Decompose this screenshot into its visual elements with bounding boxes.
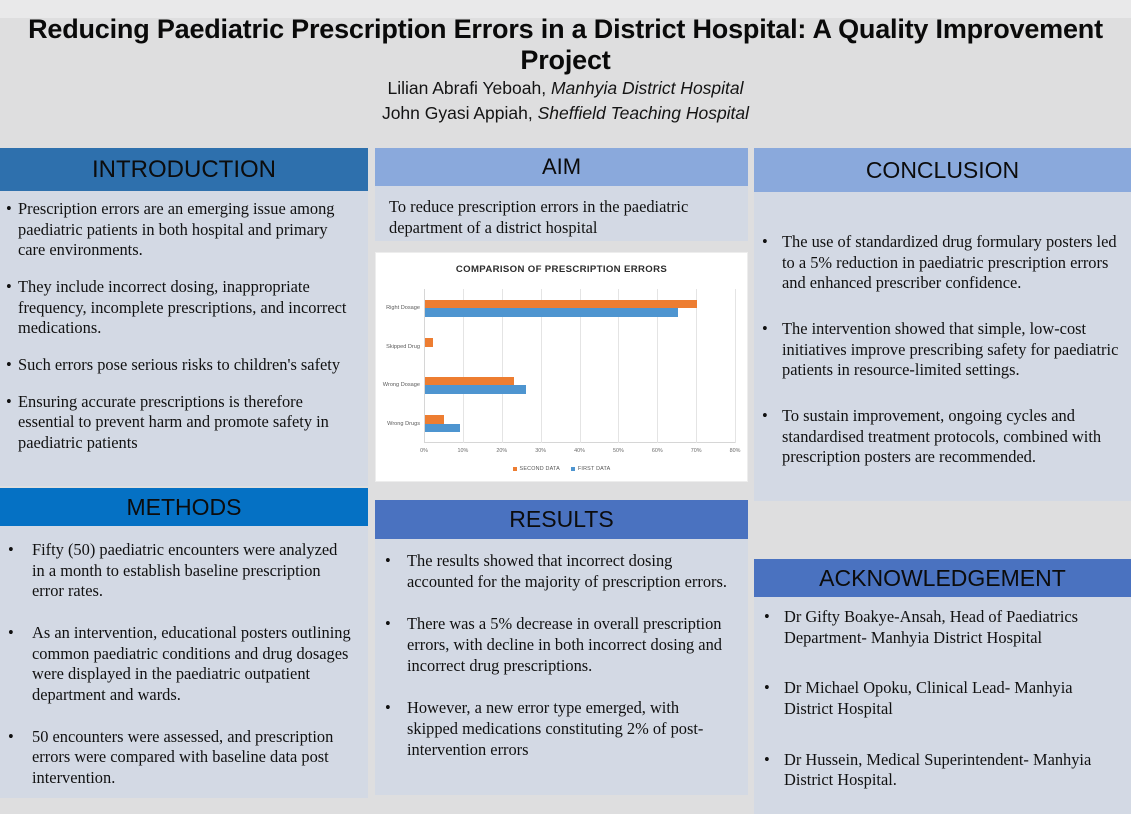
section-body-aim: To reduce prescription errors in the pae… <box>375 186 748 241</box>
aim-statement: To reduce prescription errors in the pae… <box>389 196 734 238</box>
chart-bar <box>425 300 697 308</box>
author-list: Lilian Abrafi Yeboah, Manhyia District H… <box>18 76 1113 126</box>
list-item: • Prescription errors are an emerging is… <box>6 199 356 261</box>
acknowledgement-bullet-list: • Dr Gifty Boakye-Ansah, Head of Paediat… <box>764 607 1119 791</box>
list-item: • Such errors pose serious risks to chil… <box>6 355 356 376</box>
list-item-text: The use of standardized drug formulary p… <box>782 232 1121 294</box>
chart-gridline <box>735 289 736 443</box>
chart-bar <box>425 415 444 423</box>
bullet-icon: • <box>385 551 391 572</box>
section-heading-methods: METHODS <box>0 488 368 526</box>
list-item-text: Dr Gifty Boakye-Ansah, Head of Paediatri… <box>784 607 1119 648</box>
section-body-results: • The results showed that incorrect dosi… <box>375 539 748 795</box>
chart-category-label: Wrong Drugs <box>387 421 420 427</box>
bullet-icon: • <box>8 727 14 748</box>
list-item-text: 50 encounters were assessed, and prescri… <box>32 727 354 789</box>
list-item: • The results showed that incorrect dosi… <box>385 551 734 592</box>
legend-swatch-icon <box>571 467 575 471</box>
chart-bar <box>425 424 460 432</box>
chart-category-label: Right Dosage <box>386 305 420 311</box>
chart-x-tick-label: 10% <box>457 448 468 454</box>
bullet-icon: • <box>385 698 391 719</box>
bullet-icon: • <box>8 623 14 644</box>
legend-swatch-icon <box>513 467 517 471</box>
section-body-introduction: • Prescription errors are an emerging is… <box>0 191 368 486</box>
section-body-conclusion: • The use of standardized drug formulary… <box>754 192 1131 501</box>
chart-bar <box>425 308 678 316</box>
author-line-1: Lilian Abrafi Yeboah, Manhyia District H… <box>18 76 1113 101</box>
section-heading-introduction: INTRODUCTION <box>0 148 368 191</box>
chart-bar <box>425 338 433 346</box>
chart-x-tick-label: 20% <box>496 448 507 454</box>
author-affiliation-1: Manhyia District Hospital <box>551 78 744 98</box>
section-conclusion: CONCLUSION • The use of standardized dru… <box>754 148 1131 501</box>
list-item: • There was a 5% decrease in overall pre… <box>385 614 734 676</box>
methods-bullet-list: • Fifty (50) paediatric encounters were … <box>8 540 354 789</box>
bullet-icon: • <box>6 392 12 413</box>
section-results: RESULTS • The results showed that incorr… <box>375 500 748 795</box>
chart-bar <box>425 385 526 393</box>
list-item-text: The intervention showed that simple, low… <box>782 319 1121 381</box>
section-heading-aim: AIM <box>375 148 748 186</box>
list-item-text: Ensuring accurate prescriptions is there… <box>18 392 356 454</box>
section-heading-acknowledgement: ACKNOWLEDGEMENT <box>754 559 1131 597</box>
section-body-acknowledgement: • Dr Gifty Boakye-Ansah, Head of Paediat… <box>754 597 1131 814</box>
chart-x-tick-label: 40% <box>574 448 585 454</box>
list-item-text: Such errors pose serious risks to childr… <box>18 355 356 376</box>
legend-item-first-data: FIRST DATA <box>571 466 611 472</box>
bullet-icon: • <box>762 406 768 427</box>
section-methods: METHODS • Fifty (50) paediatric encounte… <box>0 488 368 798</box>
list-item-text: As an intervention, educational posters … <box>32 623 354 706</box>
list-item-text: To sustain improvement, ongoing cycles a… <box>782 406 1121 468</box>
chart-x-tick-label: 80% <box>730 448 741 454</box>
list-item-text: Dr Hussein, Medical Superintendent- Manh… <box>784 750 1119 791</box>
right-column: CONCLUSION • The use of standardized dru… <box>754 148 1131 814</box>
list-item: • Ensuring accurate prescriptions is the… <box>6 392 356 454</box>
list-item: • The intervention showed that simple, l… <box>762 319 1121 381</box>
list-item-text: However, a new error type emerged, with … <box>407 698 734 760</box>
list-item: • To sustain improvement, ongoing cycles… <box>762 406 1121 468</box>
chart-category-label: Wrong Dosage <box>383 382 420 388</box>
list-item: • They include incorrect dosing, inappro… <box>6 277 356 339</box>
chart-plot-area: 0%10%20%30%40%50%60%70%80%Right DosageSk… <box>424 289 735 443</box>
page-title: Reducing Paediatric Prescription Errors … <box>18 14 1113 76</box>
author-name-2: John Gyasi Appiah, <box>382 103 533 123</box>
legend-item-second-data: SECOND DATA <box>513 466 560 472</box>
chart-x-tick-label: 50% <box>613 448 624 454</box>
middle-column: AIM To reduce prescription errors in the… <box>375 148 748 795</box>
list-item: • Fifty (50) paediatric encounters were … <box>8 540 354 602</box>
author-line-2: John Gyasi Appiah, Sheffield Teaching Ho… <box>18 101 1113 126</box>
left-column: INTRODUCTION • Prescription errors are a… <box>0 148 368 798</box>
chart-x-tick-label: 0% <box>420 448 428 454</box>
chart-x-tick-label: 70% <box>691 448 702 454</box>
conclusion-bullet-list: • The use of standardized drug formulary… <box>762 232 1121 468</box>
list-item-text: They include incorrect dosing, inappropr… <box>18 277 356 339</box>
legend-label: FIRST DATA <box>578 466 611 472</box>
poster-canvas: Reducing Paediatric Prescription Errors … <box>0 0 1131 800</box>
list-item: • Dr Gifty Boakye-Ansah, Head of Paediat… <box>764 607 1119 648</box>
bullet-icon: • <box>6 277 12 298</box>
bullet-icon: • <box>8 540 14 561</box>
bullet-icon: • <box>6 199 12 220</box>
bullet-icon: • <box>762 232 768 253</box>
chart-bar <box>425 377 514 385</box>
chart-x-tick-label: 30% <box>535 448 546 454</box>
list-item: • However, a new error type emerged, wit… <box>385 698 734 760</box>
list-item: • Dr Hussein, Medical Superintendent- Ma… <box>764 750 1119 791</box>
section-introduction: INTRODUCTION • Prescription errors are a… <box>0 148 368 486</box>
results-bullet-list: • The results showed that incorrect dosi… <box>385 551 734 760</box>
section-heading-conclusion: CONCLUSION <box>754 148 1131 192</box>
section-body-methods: • Fifty (50) paediatric encounters were … <box>0 526 368 798</box>
chart-x-tick-label: 60% <box>652 448 663 454</box>
introduction-bullet-list: • Prescription errors are an emerging is… <box>6 199 356 454</box>
section-heading-results: RESULTS <box>375 500 748 539</box>
bullet-icon: • <box>764 607 770 628</box>
list-item-text: Fifty (50) paediatric encounters were an… <box>32 540 354 602</box>
chart-gridline <box>696 289 697 443</box>
bullet-icon: • <box>764 750 770 771</box>
list-item-text: Dr Michael Opoku, Clinical Lead- Manhyia… <box>784 678 1119 719</box>
poster-title-band: Reducing Paediatric Prescription Errors … <box>0 0 1131 140</box>
list-item: • The use of standardized drug formulary… <box>762 232 1121 294</box>
prescription-errors-chart: COMPARISON OF PRESCRIPTION ERRORS 0%10%2… <box>375 252 748 482</box>
list-item-text: There was a 5% decrease in overall presc… <box>407 614 734 676</box>
bullet-icon: • <box>385 614 391 635</box>
legend-label: SECOND DATA <box>520 466 560 472</box>
author-name-1: Lilian Abrafi Yeboah, <box>387 78 546 98</box>
list-item: • As an intervention, educational poster… <box>8 623 354 706</box>
list-item-text: The results showed that incorrect dosing… <box>407 551 734 592</box>
bullet-icon: • <box>762 319 768 340</box>
section-acknowledgement: ACKNOWLEDGEMENT • Dr Gifty Boakye-Ansah,… <box>754 559 1131 814</box>
author-affiliation-2: Sheffield Teaching Hospital <box>538 103 749 123</box>
list-item-text: Prescription errors are an emerging issu… <box>18 199 356 261</box>
bullet-icon: • <box>764 678 770 699</box>
chart-title: COMPARISON OF PRESCRIPTION ERRORS <box>376 264 747 275</box>
chart-category-label: Skipped Drug <box>386 344 420 350</box>
list-item: • Dr Michael Opoku, Clinical Lead- Manhy… <box>764 678 1119 719</box>
chart-legend: SECOND DATA FIRST DATA <box>376 466 747 472</box>
section-aim: AIM To reduce prescription errors in the… <box>375 148 748 241</box>
bullet-icon: • <box>6 355 12 376</box>
list-item: • 50 encounters were assessed, and presc… <box>8 727 354 789</box>
